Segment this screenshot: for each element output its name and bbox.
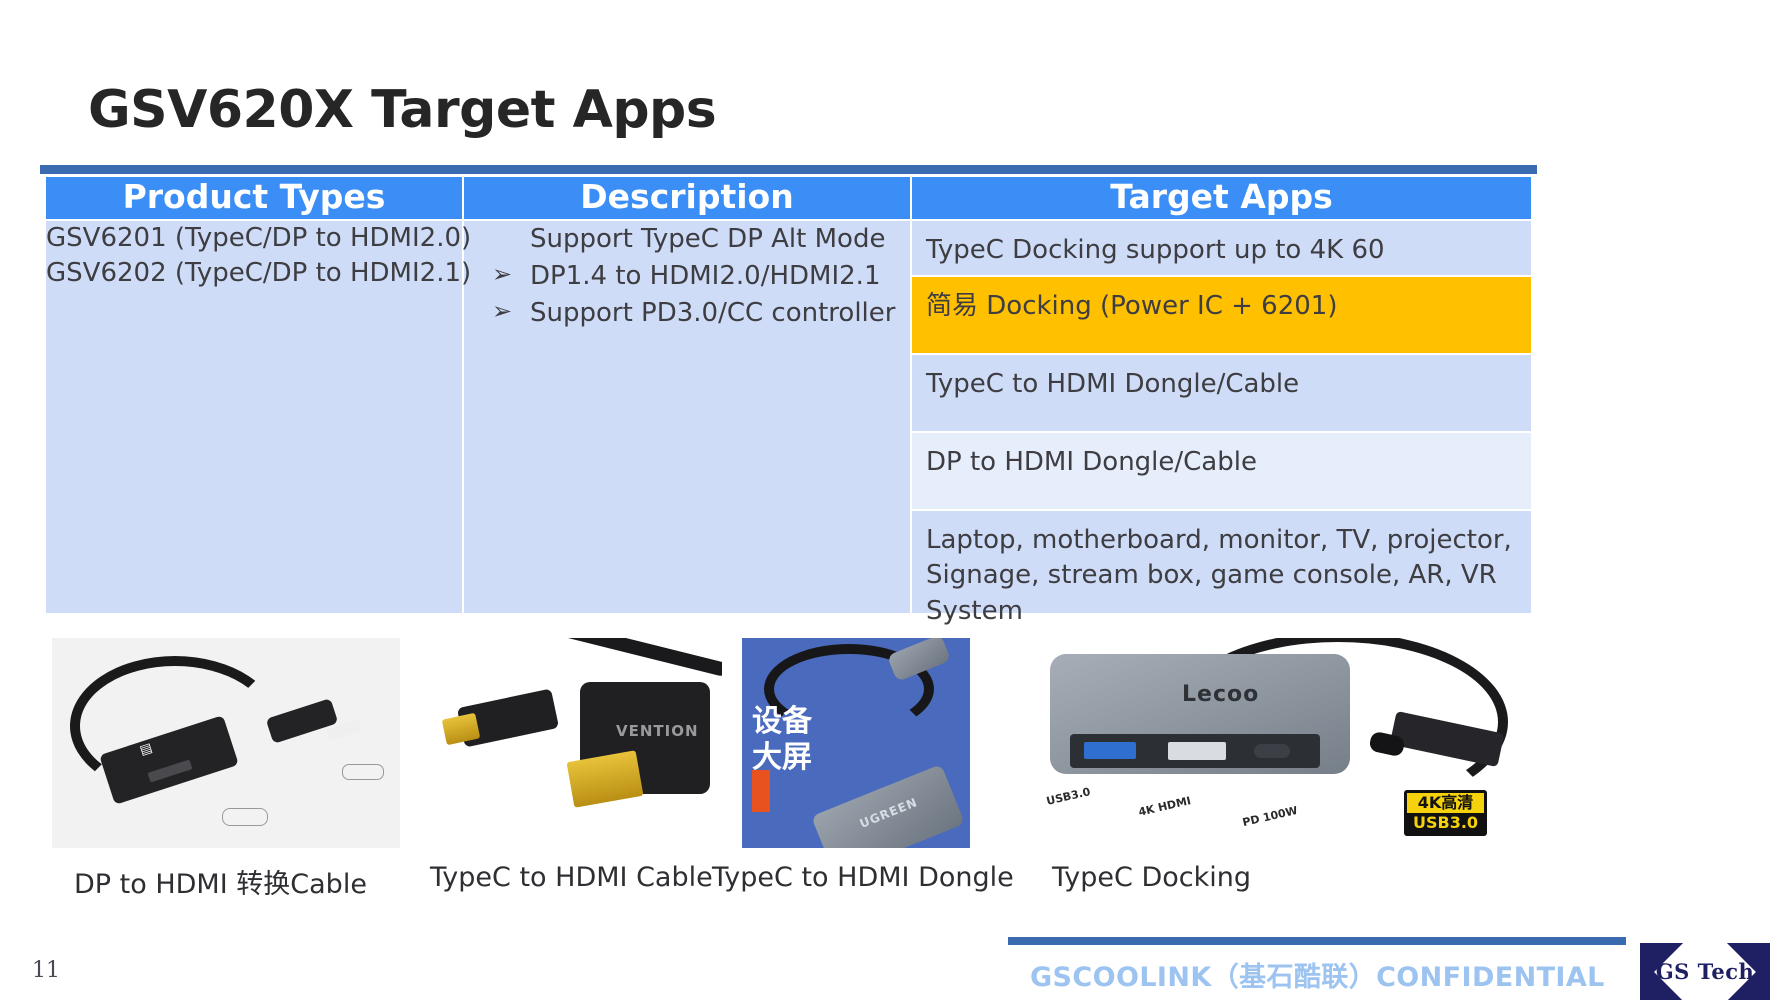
description-item: ➢ DP1.4 to HDMI2.0/HDMI2.1 <box>464 258 910 295</box>
arrow-bullet-icon: ➢ <box>492 294 512 328</box>
table-body-row: GSV6201 (TypeC/DP to HDMI2.0) GSV6202 (T… <box>46 220 1531 614</box>
arrow-bullet-icon: ➢ <box>492 257 512 291</box>
feature-badge: 4K高清 USB3.0 <box>1404 790 1487 836</box>
caption-row: DP to HDMI 转换Cable TypeC to HDMI Cable T… <box>52 862 1552 902</box>
table-top-accent-bar <box>40 165 1537 174</box>
footer-accent-bar <box>1008 937 1626 945</box>
product-photo-typec-docking: Lecoo USB3.0 4K HDMI PD 100W 4K高清 USB3.0 <box>992 638 1552 848</box>
column-header-product-types: Product Types <box>46 177 463 220</box>
product-photo-typec-to-hdmi-dongle: 设备 大屏 UGREEN <box>742 638 970 848</box>
mini-dp-port-outline-icon <box>342 764 384 780</box>
port-label-usb3: USB3.0 <box>1045 785 1092 808</box>
cell-product-types: GSV6201 (TypeC/DP to HDMI2.0) GSV6202 (T… <box>46 220 463 614</box>
target-apps-table: Product Types Description Target Apps GS… <box>46 177 1531 615</box>
description-item-label: Support TypeC DP Alt Mode <box>530 224 885 254</box>
confidential-notice: GSCOOLINK（基石酷联）CONFIDENTIAL <box>1030 955 1605 994</box>
logo-label: GS Tech <box>1640 943 1770 1000</box>
caption-dp-to-hdmi-cable: DP to HDMI 转换Cable <box>74 862 367 901</box>
caption-typec-docking: TypeC Docking <box>1052 862 1251 893</box>
caption-typec-to-hdmi-cable: TypeC to HDMI Cable <box>430 862 713 893</box>
target-app-row: TypeC Docking support up to 4K 60 <box>912 221 1531 277</box>
badge-top-label: 4K高清 <box>1407 793 1484 813</box>
brand-label-lecoo: Lecoo <box>1182 682 1259 707</box>
port-label-4k-hdmi: 4K HDMI <box>1137 794 1192 819</box>
product-image-strip: ▤ VENTION 设备 大屏 UGREEN Lecoo USB3.0 4K H… <box>52 638 1552 848</box>
brand-label-vention: VENTION <box>616 722 699 740</box>
hdmi-port-icon <box>1168 742 1226 760</box>
product-type-line: GSV6202 (TypeC/DP to HDMI2.1) <box>46 256 462 291</box>
column-header-description: Description <box>463 177 911 220</box>
product-photo-dp-to-hdmi-cable: ▤ <box>52 638 400 848</box>
description-item-label: Support PD3.0/CC controller <box>530 298 895 328</box>
column-header-target-apps: Target Apps <box>911 177 1531 220</box>
target-app-row: TypeC to HDMI Dongle/Cable <box>912 355 1531 433</box>
port-label-pd-100w: PD 100W <box>1241 804 1299 829</box>
cell-target-apps: TypeC Docking support up to 4K 60 简易 Doc… <box>911 220 1531 614</box>
hdmi-port-outline-icon <box>222 808 268 826</box>
target-app-row-highlighted: 简易 Docking (Power IC + 6201) <box>912 277 1531 355</box>
product-type-line: GSV6201 (TypeC/DP to HDMI2.0) <box>46 221 462 256</box>
company-logo: GS Tech <box>1640 943 1770 1000</box>
cell-description: Support TypeC DP Alt Mode ➢ DP1.4 to HDM… <box>463 220 911 614</box>
description-item: ➢ Support PD3.0/CC controller <box>464 295 910 332</box>
page-title: GSV620X Target Apps <box>88 80 716 140</box>
page-number: 11 <box>32 958 60 983</box>
description-item-label: DP1.4 to HDMI2.0/HDMI2.1 <box>530 261 880 291</box>
caption-typec-to-hdmi-dongle: TypeC to HDMI Dongle <box>712 862 1014 893</box>
overlay-accent-tag <box>752 770 770 812</box>
product-photo-typec-to-hdmi-cable: VENTION <box>430 638 722 848</box>
typec-port-icon <box>1254 744 1290 758</box>
description-item: Support TypeC DP Alt Mode <box>464 221 910 258</box>
target-app-row: DP to HDMI Dongle/Cable <box>912 433 1531 511</box>
badge-bottom-label: USB3.0 <box>1407 813 1484 833</box>
target-app-row: Laptop, motherboard, monitor, TV, projec… <box>912 511 1531 613</box>
table-header-row: Product Types Description Target Apps <box>46 177 1531 220</box>
usb3-port-icon <box>1084 742 1136 759</box>
